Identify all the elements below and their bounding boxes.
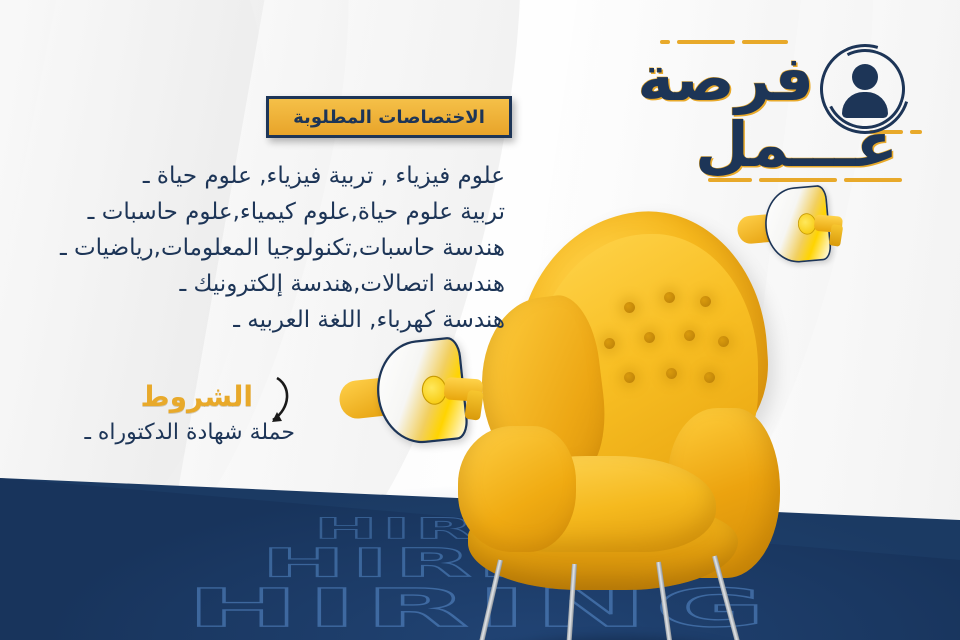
curved-arrow-icon (247, 374, 293, 430)
chair-shadow (464, 630, 764, 640)
title-dash-row-bottom (708, 178, 902, 182)
specializations-banner-label: الاختصاصات المطلوبة (293, 107, 485, 128)
list-item: هندسة كهرباء, اللغة العربيه ـ (0, 302, 505, 338)
chair-left-arm (458, 426, 576, 552)
specializations-list: علوم فيزياء , تربية فيزياء, علوم حياة ـ … (0, 158, 505, 338)
list-item: تربية علوم حياة,علوم كيمياء,علوم حاسبات … (0, 194, 505, 230)
specializations-banner: الاختصاصات المطلوبة (266, 96, 512, 138)
list-item: هندسة اتصالات,هندسة إلكترونيك ـ (0, 266, 505, 302)
job-opportunity-poster: HIRING HIRING HIRING HIRING (0, 0, 960, 640)
conditions-block: الشروط حملة شهادة الدكتوراه ـ (0, 380, 295, 450)
list-item: هندسة حاسبات,تكنولوجيا المعلومات,رياضيات… (0, 230, 505, 266)
title-line-1: فرصة (637, 48, 814, 110)
person-in-circle-icon (820, 44, 910, 134)
list-item: علوم فيزياء , تربية فيزياء, علوم حياة ـ (0, 158, 505, 194)
poster-title: فرصة عـــمل (596, 18, 926, 188)
